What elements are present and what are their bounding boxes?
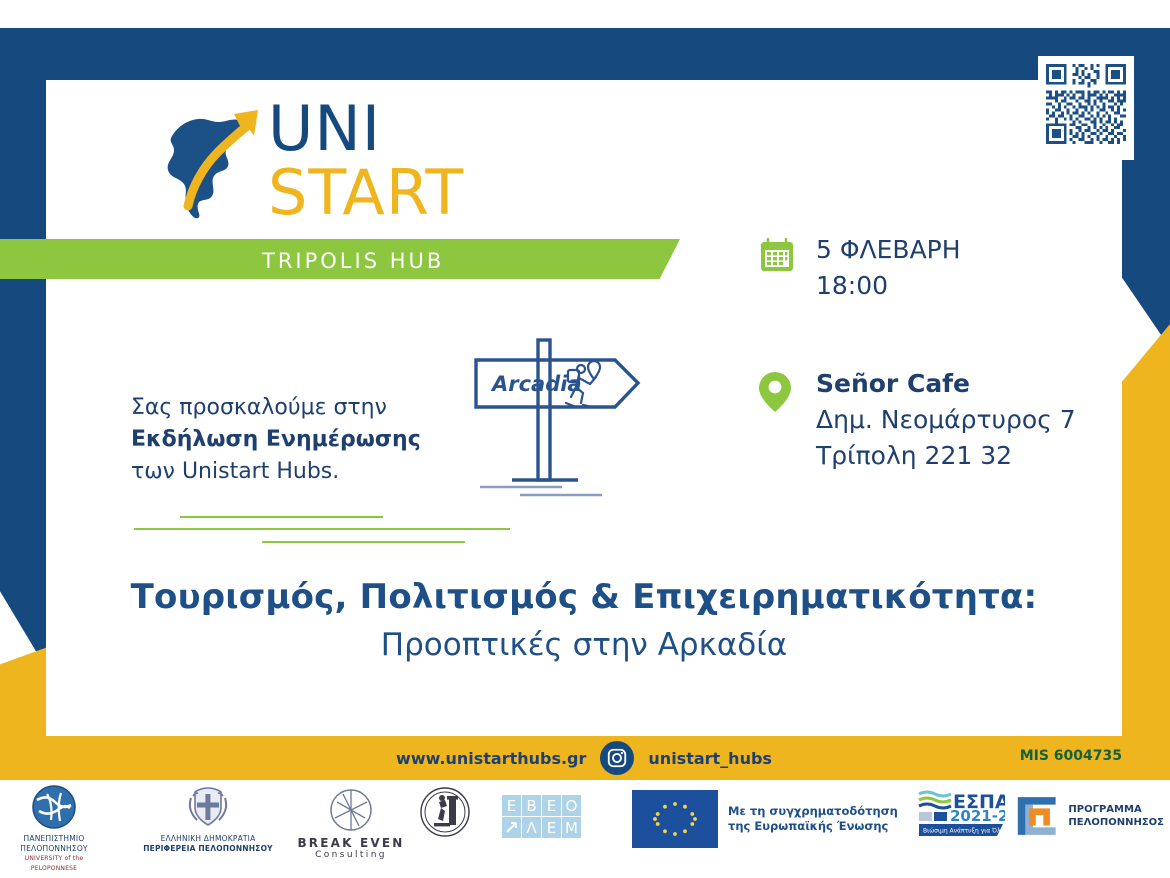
peloponnese-map-icon: [158, 100, 276, 220]
partner-european-union: Με τη συγχρηματοδότηση της Ευρωπαϊκής Έν…: [632, 790, 902, 848]
espa-years: 2021-2027: [950, 807, 1005, 825]
instagram-handle[interactable]: unistart_hubs: [648, 749, 772, 768]
partner-break-even-consulting: BREAK EVEN Consulting: [296, 788, 406, 860]
event-location-text: Señor Cafe Δημ. Νεομάρτυρος 7 Τρίπολη 22…: [816, 366, 1076, 474]
event-title-block: Τουρισμός, Πολιτισμός & Επιχειρηματικότη…: [46, 575, 1122, 667]
map-pin-icon: [758, 366, 798, 418]
event-location-row: Señor Cafe Δημ. Νεομάρτυρος 7 Τρίπολη 22…: [758, 366, 1098, 474]
espa-tagline: Βιώσιμη Ανάπτυξη για Όλους: [923, 828, 1005, 835]
calendar-icon: [758, 232, 798, 278]
partner-program-line2: ΠΕΛΟΠΟΝΝΗΣΟΣ: [1068, 816, 1164, 829]
invitation-line-3: των Unistart Hubs.: [131, 456, 461, 488]
qr-code-icon[interactable]: [1038, 56, 1134, 160]
ntua-seal: [419, 786, 471, 838]
instagram-icon[interactable]: [600, 741, 634, 775]
eveo-lemp-logo: ΕΒ ΕΟ ΛΕ Μ: [501, 794, 583, 840]
european-union-flag: [632, 790, 718, 848]
decorative-rule-3: [262, 541, 465, 543]
logo-text-start: START: [268, 162, 464, 224]
partner-region-line1: ΕΛΛΗΝΙΚΗ ΔΗΜΟΚΡΑΤΙΑ: [134, 834, 282, 844]
event-address-line1: Δημ. Νεομάρτυρος 7: [816, 402, 1076, 438]
event-poster: UNI START TRIPOLIS HUB: [0, 0, 1170, 878]
partner-break-even-line1: BREAK EVEN: [296, 836, 406, 850]
svg-text:Ο: Ο: [566, 797, 578, 815]
event-address-line2: Τρίπολη 221 32: [816, 438, 1076, 474]
university-of-peloponnese-seal: [31, 784, 77, 830]
partner-program-line1: ΠΡΟΓΡΑΜΜΑ: [1068, 803, 1164, 816]
invitation-text: Σας προσκαλούμε στην Εκδήλωση Ενημέρωσης…: [131, 392, 461, 488]
event-date-text: 5 ΦΛΕΒΑΡΗ 18:00: [816, 232, 961, 304]
event-details: 5 ΦΛΕΒΑΡΗ 18:00 Señor Cafe Δημ. Νεομάρτυ…: [758, 232, 1098, 474]
partner-eu-line1: Με τη συγχρηματοδότηση: [728, 804, 898, 819]
mis-code: MIS 6004735: [1020, 748, 1122, 764]
page-subtitle: Προοπτικές στην Αρκαδία: [46, 623, 1122, 667]
svg-text:Β: Β: [526, 797, 536, 815]
partner-uop-line2: ΠΕΛΟΠΟΝΝΗΣΟΥ: [6, 844, 102, 854]
event-time: 18:00: [816, 268, 961, 304]
svg-text:Ε: Ε: [547, 797, 556, 815]
svg-text:Ε: Ε: [507, 797, 516, 815]
espa-logo: ΕΣΠΑ 2021-2027 Βιώσιμη Ανάπτυξη για Όλου…: [917, 788, 1005, 840]
partner-region-of-peloponnese: ΕΛΛΗΝΙΚΗ ΔΗΜΟΚΡΑΤΙΑ ΠΕΡΙΦΕΡΕΙΑ ΠΕΛΟΠΟΝΝΗ…: [134, 784, 282, 854]
partner-region-line2: ΠΕΡΙΦΕΡΕΙΑ ΠΕΛΟΠΟΝΝΗΣΟΥ: [134, 844, 282, 854]
svg-text:Λ: Λ: [526, 819, 537, 837]
invitation-line-1: Σας προσκαλούμε στην: [131, 392, 461, 424]
invitation-line-2: Εκδήλωση Ενημέρωσης: [131, 424, 461, 456]
frame-left-navy: [0, 28, 46, 668]
partner-ntua: [412, 786, 478, 842]
frame-right-yellow: [1122, 300, 1170, 780]
partner-uop-line3: UNIVERSITY of the PELOPONNESE: [6, 854, 102, 874]
program-peloponnisos-logo: [1014, 792, 1059, 840]
decorative-rule-2: [134, 528, 510, 530]
website-link[interactable]: www.unistarthubs.gr: [396, 749, 586, 768]
event-venue: Señor Cafe: [816, 366, 1076, 402]
frame-top-navy-bar: [0, 28, 1170, 80]
partner-uop-line1: ΠΑΝΕΠΙΣΤΗΜΙΟ: [6, 834, 102, 844]
decorative-rule-1: [180, 516, 383, 518]
partner-break-even-line2: Consulting: [296, 850, 406, 860]
event-date: 5 ΦΛΕΒΑΡΗ: [816, 232, 961, 268]
event-date-row: 5 ΦΛΕΒΑΡΗ 18:00: [758, 232, 1098, 304]
hub-band-label: TRIPOLIS HUB: [262, 249, 444, 273]
partner-university-of-peloponnese: ΠΑΝΕΠΙΣΤΗΜΙΟ ΠΕΛΟΠΟΝΝΗΣΟΥ UNIVERSITY of …: [6, 784, 102, 874]
svg-text:Μ: Μ: [565, 819, 578, 837]
break-even-circle-logo: [329, 788, 373, 832]
logo-text-uni: UNI: [268, 96, 464, 162]
signpost-icon: Arcadia: [450, 315, 665, 515]
partner-program-peloponnisos: ΠΡΟΓΡΑΜΜΑ ΠΕΛΟΠΟΝΝΗΣΟΣ: [1014, 792, 1164, 840]
footer-links: www.unistarthubs.gr unistart_hubs: [46, 736, 1122, 780]
partner-eveo-lemp: ΕΒ ΕΟ ΛΕ Μ: [494, 794, 590, 844]
hellenic-republic-coat-of-arms: [183, 784, 233, 830]
unistart-logo: UNI START: [158, 96, 678, 231]
partner-logos: ΠΑΝΕΠΙΣΤΗΜΙΟ ΠΕΛΟΠΟΝΝΗΣΟΥ UNIVERSITY of …: [0, 782, 1170, 878]
partner-eu-line2: της Ευρωπαϊκής Ένωσης: [728, 819, 898, 834]
svg-text:Ε: Ε: [547, 819, 556, 837]
partner-espa: ΕΣΠΑ 2021-2027 Βιώσιμη Ανάπτυξη για Όλου…: [916, 788, 1006, 844]
page-title: Τουρισμός, Πολιτισμός & Επιχειρηματικότη…: [46, 575, 1122, 619]
